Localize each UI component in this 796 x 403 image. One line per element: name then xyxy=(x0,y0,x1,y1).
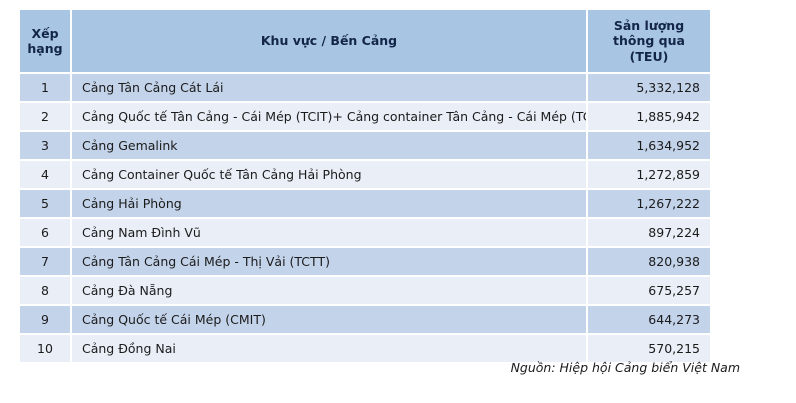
cell-name: Cảng Đồng Nai xyxy=(72,335,586,362)
column-header-teu-line2: thông qua (TEU) xyxy=(613,33,685,63)
column-header-rank-line2: hạng xyxy=(27,41,62,56)
cell-rank: 3 xyxy=(20,132,70,159)
column-header-name: Khu vực / Bến Cảng xyxy=(72,10,586,72)
cell-teu: 1,267,222 xyxy=(588,190,710,217)
table-row: 3 Cảng Gemalink 1,634,952 xyxy=(20,132,710,159)
table-body: 1 Cảng Tân Cảng Cát Lái 5,332,128 2 Cảng… xyxy=(20,74,710,362)
cell-rank: 8 xyxy=(20,277,70,304)
cell-name: Cảng Container Quốc tế Tân Cảng Hải Phòn… xyxy=(72,161,586,188)
cell-name: Cảng Nam Đình Vũ xyxy=(72,219,586,246)
cell-teu: 1,885,942 xyxy=(588,103,710,130)
port-ranking-table: Xếp hạng Khu vực / Bến Cảng Sản lượng th… xyxy=(18,8,712,364)
table-row: 8 Cảng Đà Nẵng 675,257 xyxy=(20,277,710,304)
table-header: Xếp hạng Khu vực / Bến Cảng Sản lượng th… xyxy=(20,10,710,72)
cell-rank: 7 xyxy=(20,248,70,275)
table-row: 10 Cảng Đồng Nai 570,215 xyxy=(20,335,710,362)
table-row: 2 Cảng Quốc tế Tân Cảng - Cái Mép (TCIT)… xyxy=(20,103,710,130)
cell-name: Cảng Tân Cảng Cái Mép - Thị Vải (TCTT) xyxy=(72,248,586,275)
column-header-rank: Xếp hạng xyxy=(20,10,70,72)
cell-name: Cảng Gemalink xyxy=(72,132,586,159)
cell-name: Cảng Tân Cảng Cát Lái xyxy=(72,74,586,101)
cell-teu: 1,634,952 xyxy=(588,132,710,159)
cell-teu: 675,257 xyxy=(588,277,710,304)
port-ranking-table-container: Xếp hạng Khu vực / Bến Cảng Sản lượng th… xyxy=(18,8,710,364)
cell-teu: 897,224 xyxy=(588,219,710,246)
cell-teu: 5,332,128 xyxy=(588,74,710,101)
table-row: 4 Cảng Container Quốc tế Tân Cảng Hải Ph… xyxy=(20,161,710,188)
cell-name: Cảng Đà Nẵng xyxy=(72,277,586,304)
cell-teu: 820,938 xyxy=(588,248,710,275)
table-row: 1 Cảng Tân Cảng Cát Lái 5,332,128 xyxy=(20,74,710,101)
cell-rank: 9 xyxy=(20,306,70,333)
table-header-row: Xếp hạng Khu vực / Bến Cảng Sản lượng th… xyxy=(20,10,710,72)
table-row: 5 Cảng Hải Phòng 1,267,222 xyxy=(20,190,710,217)
cell-rank: 5 xyxy=(20,190,70,217)
cell-rank: 6 xyxy=(20,219,70,246)
cell-rank: 4 xyxy=(20,161,70,188)
cell-name: Cảng Quốc tế Cái Mép (CMIT) xyxy=(72,306,586,333)
cell-name: Cảng Quốc tế Tân Cảng - Cái Mép (TCIT)+ … xyxy=(72,103,586,130)
column-header-teu: Sản lượng thông qua (TEU) xyxy=(588,10,710,72)
table-row: 6 Cảng Nam Đình Vũ 897,224 xyxy=(20,219,710,246)
source-note: Nguồn: Hiệp hội Cảng biển Việt Nam xyxy=(511,360,740,375)
cell-rank: 10 xyxy=(20,335,70,362)
table-row: 7 Cảng Tân Cảng Cái Mép - Thị Vải (TCTT)… xyxy=(20,248,710,275)
table-row: 9 Cảng Quốc tế Cái Mép (CMIT) 644,273 xyxy=(20,306,710,333)
cell-rank: 2 xyxy=(20,103,70,130)
cell-rank: 1 xyxy=(20,74,70,101)
column-header-teu-line1: Sản lượng xyxy=(614,18,684,33)
cell-teu: 1,272,859 xyxy=(588,161,710,188)
cell-teu: 570,215 xyxy=(588,335,710,362)
cell-name: Cảng Hải Phòng xyxy=(72,190,586,217)
column-header-rank-line1: Xếp xyxy=(31,26,58,41)
cell-teu: 644,273 xyxy=(588,306,710,333)
